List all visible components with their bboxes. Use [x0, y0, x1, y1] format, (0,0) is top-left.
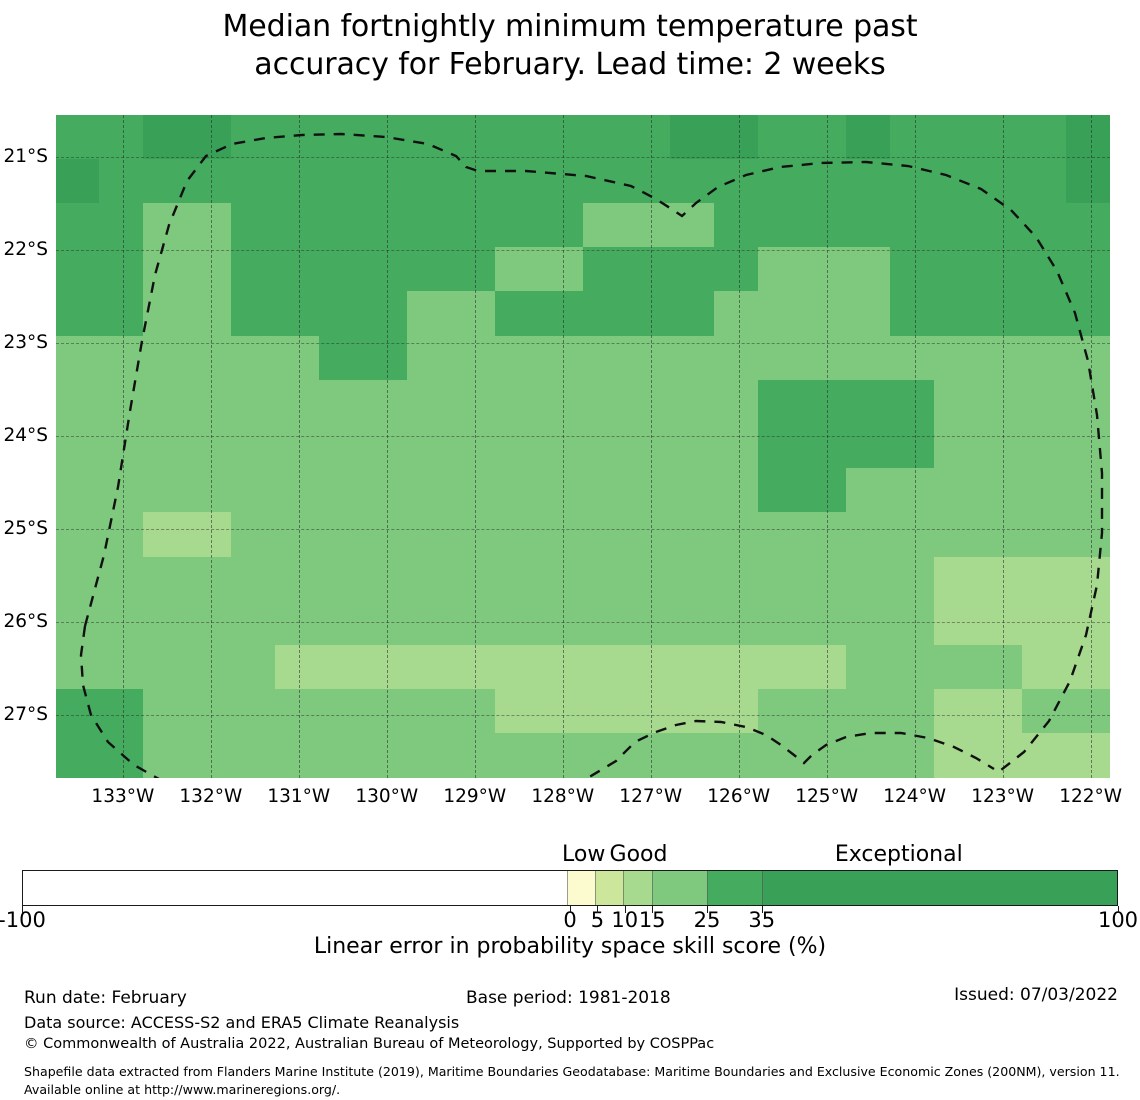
colorbar-bin	[762, 871, 1117, 905]
colorbar-tick-mark	[22, 906, 23, 913]
colorbar-quality-label: Good	[519, 842, 759, 867]
eez-boundary-line	[56, 115, 1110, 778]
y-axis-tick-label: 22°S	[0, 239, 48, 260]
colorbar-bin	[23, 871, 567, 905]
footer: Run date: February Base period: 1981-201…	[0, 980, 1140, 1095]
colorbar-section: Linear error in probability space skill …	[0, 838, 1140, 958]
footer-data-source: Data source: ACCESS-S2 and ERA5 Climate …	[24, 1013, 459, 1032]
x-axis-tick-label: 122°W	[1031, 786, 1140, 807]
y-axis-tick-label: 21°S	[0, 146, 48, 167]
footer-run-date: Run date: February	[24, 988, 187, 1008]
colorbar-tick-label: -100	[0, 908, 92, 932]
footer-shapefile-attribution: Shapefile data extracted from Flanders M…	[24, 1063, 1122, 1100]
colorbar[interactable]	[22, 870, 1118, 906]
colorbar-bin	[707, 871, 762, 905]
colorbar-axis-label: Linear error in probability space skill …	[0, 934, 1140, 959]
colorbar-bin	[652, 871, 707, 905]
y-axis-tick-label: 26°S	[0, 611, 48, 632]
colorbar-tick-label: 100	[1048, 908, 1140, 932]
colorbar-tick-mark	[762, 906, 763, 913]
y-axis-tick-label: 24°S	[0, 425, 48, 446]
y-axis-tick-label: 25°S	[0, 518, 48, 539]
footer-copyright: © Commonwealth of Australia 2022, Austra…	[24, 1036, 714, 1052]
footer-base-period: Base period: 1981-2018	[466, 988, 671, 1008]
footer-issued-date: Issued: 07/03/2022	[954, 985, 1118, 1005]
colorbar-bin	[595, 871, 623, 905]
colorbar-quality-label: Exceptional	[779, 842, 1019, 867]
chart-title-line-1: Median fortnightly minimum temperature p…	[0, 8, 1140, 46]
colorbar-bin	[567, 871, 595, 905]
y-axis-tick-label: 23°S	[0, 332, 48, 353]
chart-title-line-2: accuracy for February. Lead time: 2 week…	[0, 46, 1140, 84]
figure-root: Median fortnightly minimum temperature p…	[0, 0, 1140, 1095]
y-axis-tick-label: 27°S	[0, 704, 48, 725]
colorbar-tick-mark	[1118, 906, 1119, 913]
colorbar-bin	[623, 871, 651, 905]
chart-title: Median fortnightly minimum temperature p…	[0, 8, 1140, 84]
map-plot-area[interactable]	[56, 115, 1110, 778]
